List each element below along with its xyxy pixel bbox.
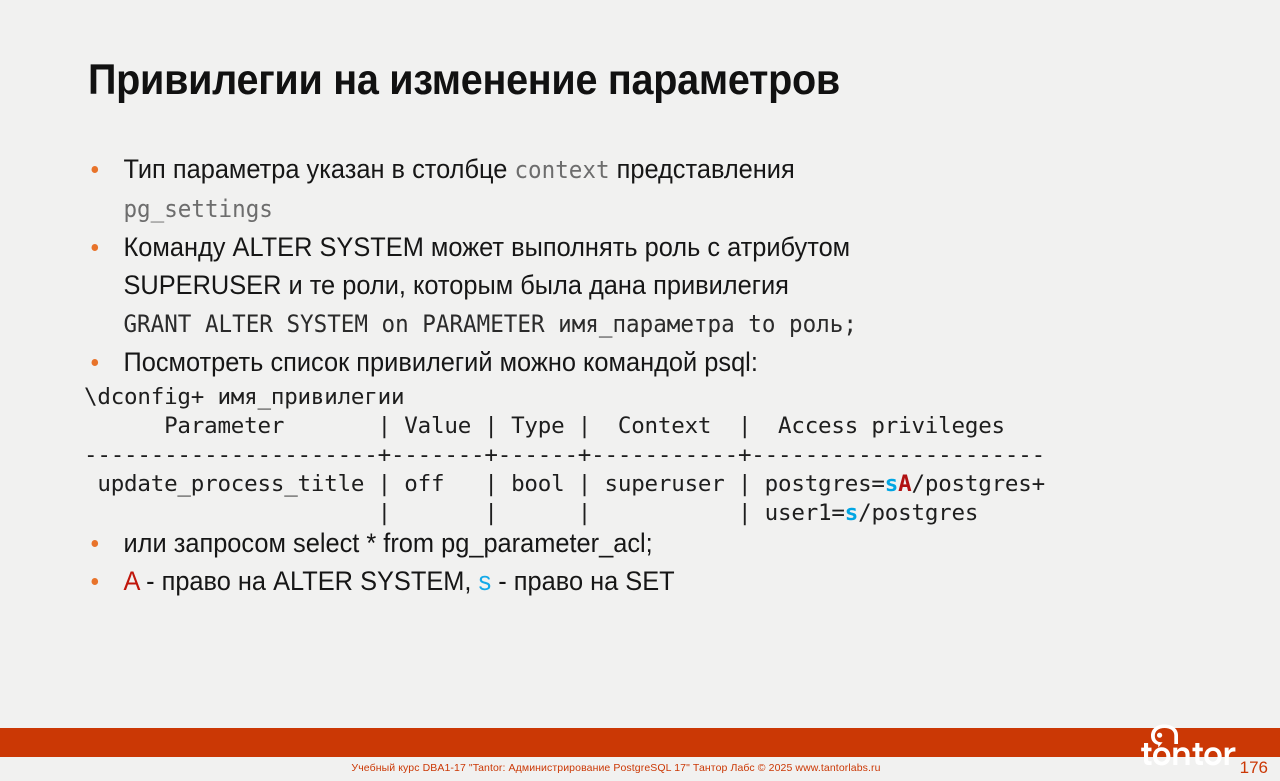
bullet-dot-icon <box>92 578 99 585</box>
bullet-item-legend: A - право на ALTER SYSTEM, s - право на … <box>84 562 1137 600</box>
tail-bullet-list: или запросом select * from pg_parameter_… <box>84 524 1204 600</box>
page-title: Привилегии на изменение параметров <box>88 55 840 105</box>
bullet-text-segment: SUPERUSER и те роли, которым была дана п… <box>123 270 788 300</box>
inline-code-pg-settings: pg_settings <box>123 195 272 223</box>
bullet-continuation-pg-settings: pg_settings <box>84 189 1137 228</box>
bullet-dot-icon <box>92 244 99 251</box>
bullet-text-segment: Команду ALTER SYSTEM может выполнять рол… <box>123 232 850 262</box>
bullet-dot-icon <box>92 166 99 173</box>
bullet-text-segment: представления <box>610 154 795 184</box>
footer-accent-bar <box>0 728 1280 757</box>
tantor-logo <box>1139 722 1251 768</box>
bullet-text-segment: Посмотреть список привилегий можно коман… <box>123 347 757 377</box>
bullet-item-alter-system-role: Команду ALTER SYSTEM может выполнять рол… <box>84 228 1137 266</box>
bullet-item-select-query: или запросом select * from pg_parameter_… <box>84 524 1137 562</box>
psql-table-row: update_process_title | off | bool | supe… <box>84 471 1045 497</box>
footer-copyright: Учебный курс DBA1-17 "Tantor: Администри… <box>0 760 1232 776</box>
psql-table-header: Parameter | Value | Type | Context | Acc… <box>84 413 1005 439</box>
psql-row-suffix: /postgres+ <box>912 471 1045 497</box>
legend-text-segment: - право на ALTER SYSTEM, <box>139 566 479 596</box>
bullet-dot-icon <box>92 540 99 547</box>
bullet-continuation-grant-statement: GRANT ALTER SYSTEM on PARAMETER имя_пара… <box>84 304 1137 343</box>
bullet-item-psql-list: Посмотреть список привилегий можно коман… <box>84 343 1137 381</box>
bullet-item-param-type: Тип параметра указан в столбце context п… <box>84 150 1137 189</box>
bullet-text-segment: или запросом select * from pg_parameter_… <box>123 528 652 558</box>
psql-row-prefix: | | | | user1= <box>84 500 845 526</box>
psql-table-row: | | | | user1=s/postgres <box>84 500 978 526</box>
psql-row-suffix: /postgres <box>858 500 978 526</box>
privilege-a-flag: A <box>898 471 911 497</box>
bullet-list: Тип параметра указан в столбце context п… <box>84 150 1204 381</box>
legend-s-flag: s <box>479 566 492 596</box>
psql-table-separator: ----------------------+-------+------+--… <box>84 442 1045 468</box>
bullet-dot-icon <box>92 359 99 366</box>
bullet-continuation-superuser: SUPERUSER и те роли, которым была дана п… <box>84 266 1137 304</box>
bullet-text-segment: Тип параметра указан в столбце <box>123 154 514 184</box>
privilege-s-flag: s <box>885 471 898 497</box>
logo-elephant-bubble-icon <box>1151 725 1178 748</box>
inline-code-grant: GRANT ALTER SYSTEM on PARAMETER имя_пара… <box>123 310 856 338</box>
slide-canvas: Привилегии на изменение параметров Тип п… <box>0 0 1280 781</box>
psql-output-block: \dconfig+ имя_привилегии Parameter | Val… <box>84 383 1045 528</box>
privilege-s-flag: s <box>845 500 858 526</box>
psql-row-prefix: update_process_title | off | bool | supe… <box>84 471 885 497</box>
legend-text-segment: - право на SET <box>491 566 674 596</box>
logo-wordmark <box>1141 743 1235 765</box>
legend-a-flag: A <box>123 566 139 596</box>
inline-code-context: context <box>514 156 609 184</box>
psql-command: \dconfig+ имя_привилегии <box>84 384 404 410</box>
